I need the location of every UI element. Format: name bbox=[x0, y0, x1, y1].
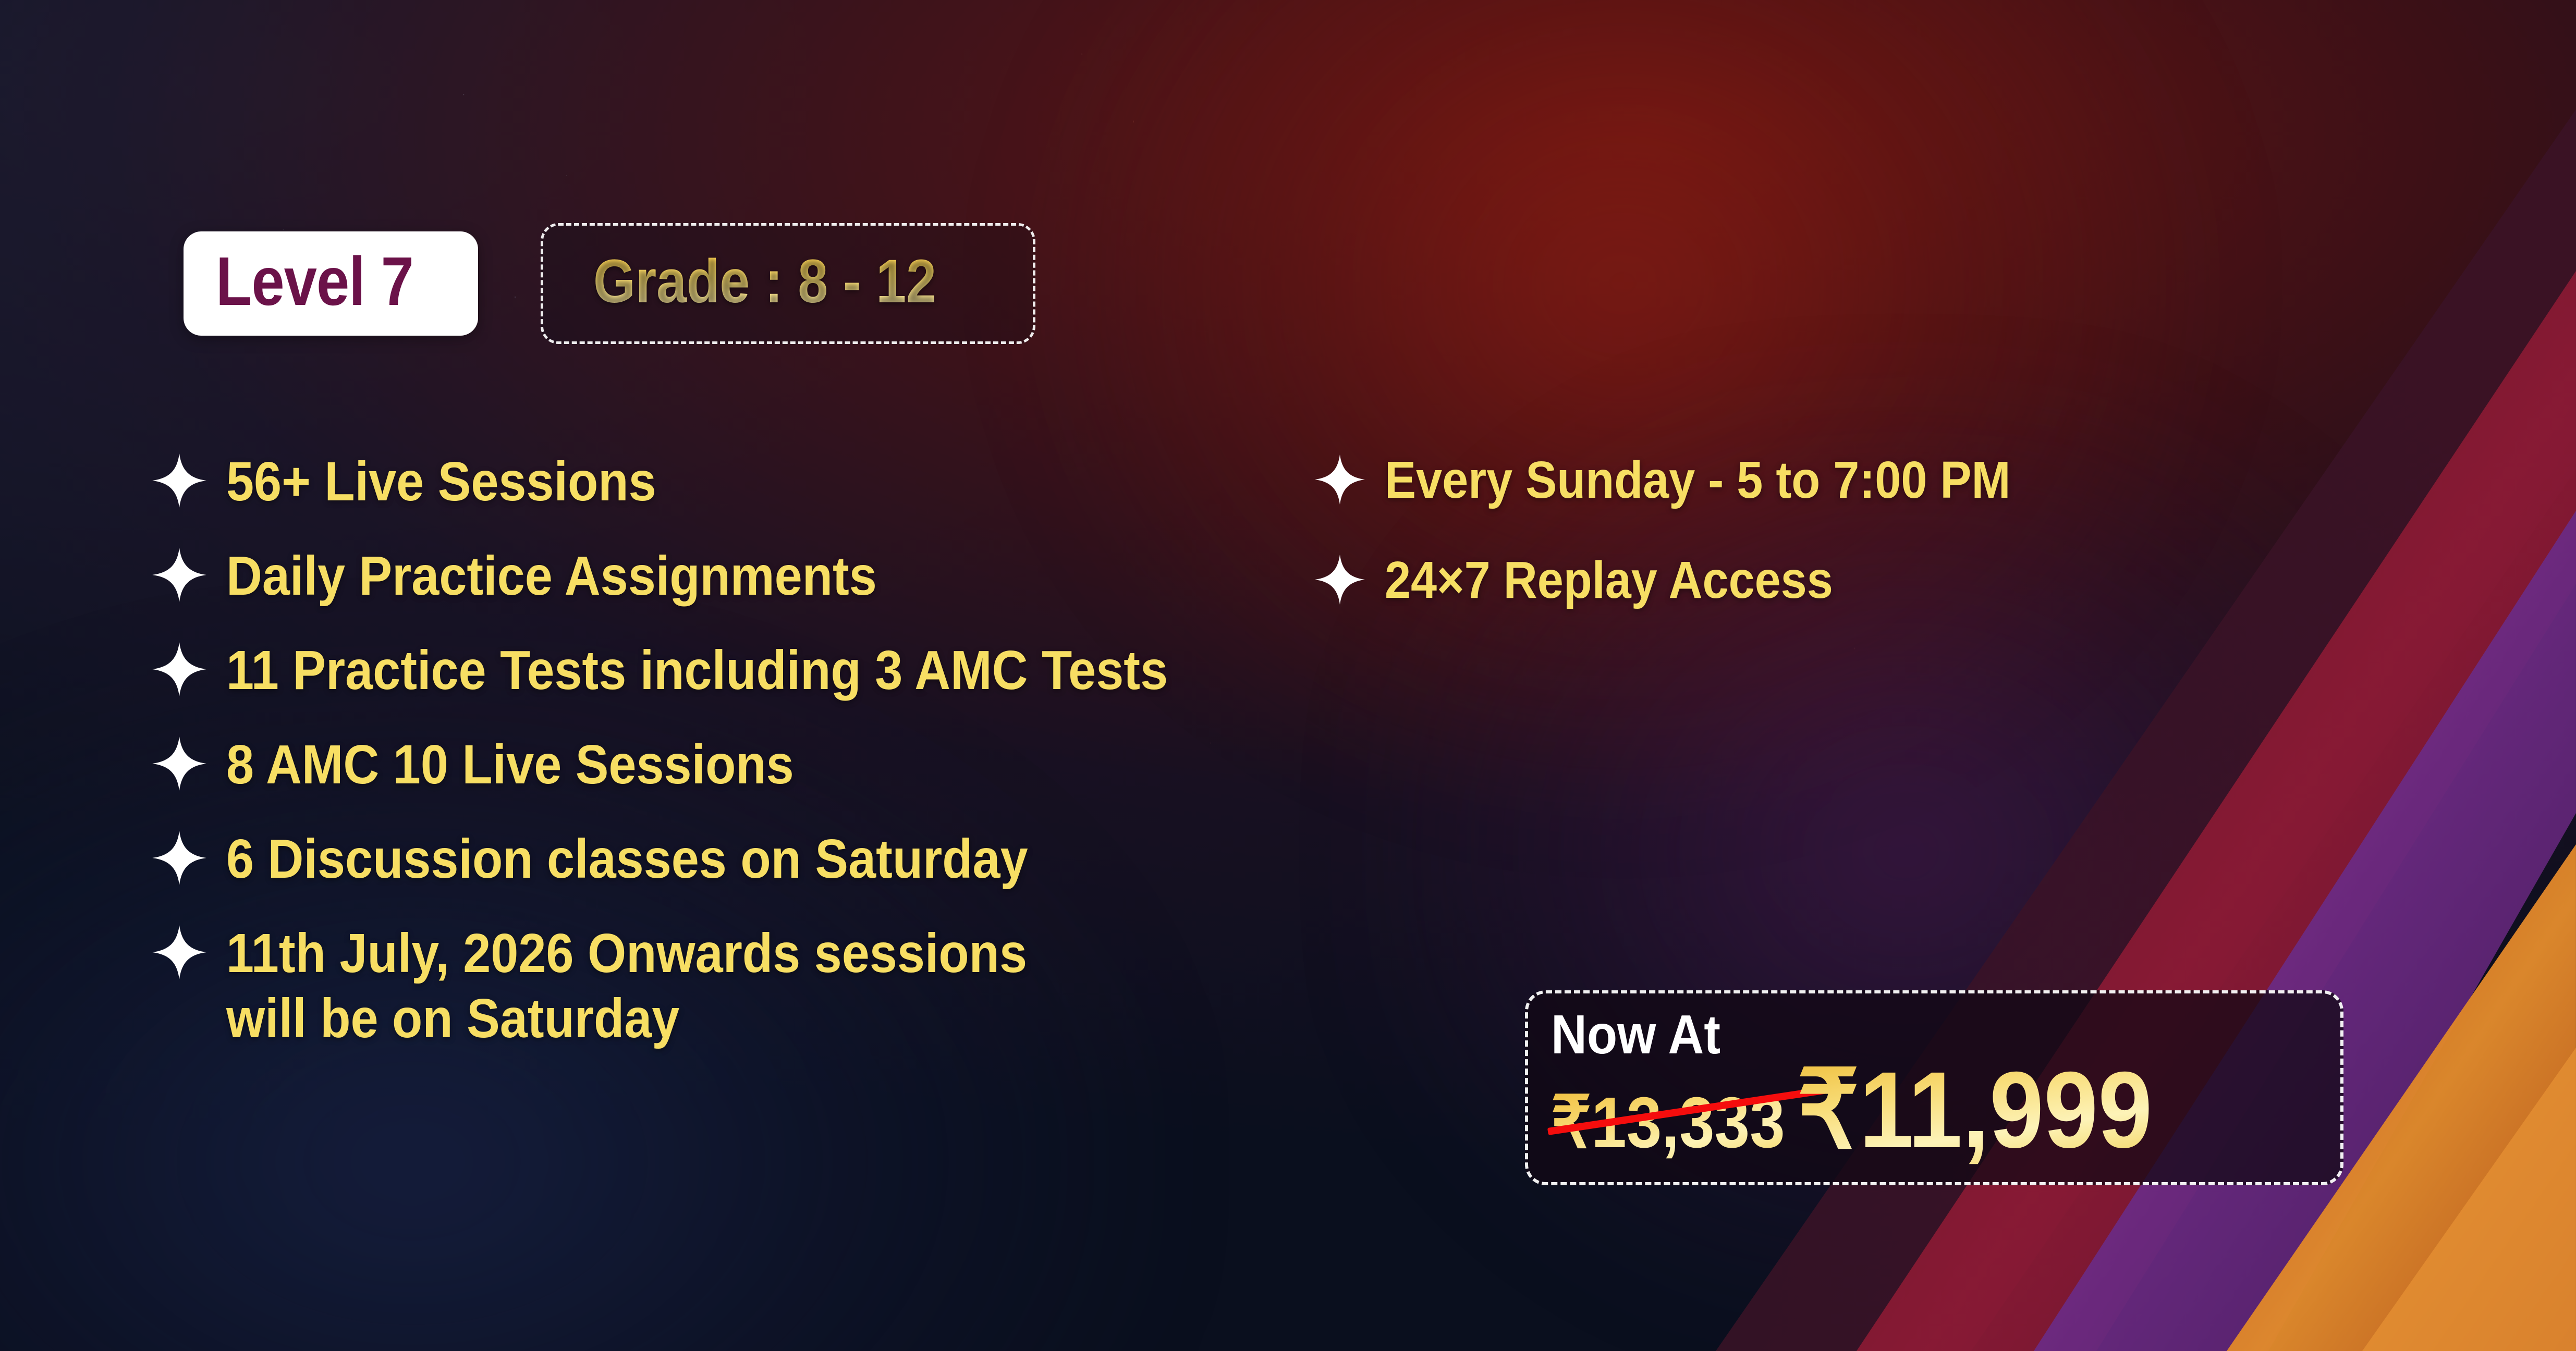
grade-badge-label: Grade : 8 - 12 bbox=[593, 251, 936, 312]
original-price-wrapper: ₹13,333 bbox=[1551, 1087, 1817, 1159]
level-badge-label: Level 7 bbox=[216, 247, 413, 316]
feature-item: Every Sunday - 5 to 7:00 PM bbox=[1314, 449, 2513, 511]
feature-label: 11 Practice Tests including 3 AMC Tests bbox=[226, 638, 1168, 703]
sparkle-icon bbox=[151, 452, 207, 509]
sparkle-icon bbox=[151, 641, 207, 697]
feature-label: 56+ Live Sessions bbox=[226, 449, 656, 514]
discounted-price: ₹11,999 bbox=[1797, 1056, 2152, 1164]
sparkle-icon bbox=[1314, 554, 1366, 606]
feature-item: 8 AMC 10 Live Sessions bbox=[151, 732, 1663, 797]
sparkle-icon bbox=[151, 924, 207, 980]
sparkle-icon bbox=[151, 830, 207, 886]
sparkle-icon bbox=[151, 735, 207, 792]
feature-label: 24×7 Replay Access bbox=[1385, 549, 1833, 611]
level-badge: Level 7 bbox=[184, 231, 478, 336]
price-box: Now At ₹13,333 ₹11,999 bbox=[1525, 990, 2343, 1185]
sparkle-icon bbox=[1314, 453, 1366, 506]
feature-label: Daily Practice Assignments bbox=[226, 544, 877, 609]
sparkle-icon bbox=[151, 547, 207, 603]
promo-banner: Level 7 Grade : 8 - 12 56+ Live Sessions… bbox=[0, 0, 2576, 1351]
feature-label: 6 Discussion classes on Saturday bbox=[226, 827, 1028, 892]
feature-label: Every Sunday - 5 to 7:00 PM bbox=[1385, 449, 2010, 511]
header-badges: Level 7 Grade : 8 - 12 bbox=[184, 223, 1035, 344]
feature-item: 6 Discussion classes on Saturday bbox=[151, 827, 1663, 892]
feature-label: 8 AMC 10 Live Sessions bbox=[226, 732, 794, 797]
price-row: ₹13,333 ₹11,999 bbox=[1551, 1056, 2323, 1164]
feature-item: 11th July, 2026 Onwards sessions will be… bbox=[151, 921, 1663, 1051]
feature-list-right: Every Sunday - 5 to 7:00 PM 24×7 Replay … bbox=[1314, 449, 2513, 649]
feature-label: 11th July, 2026 Onwards sessions will be… bbox=[226, 921, 1027, 1051]
grade-badge: Grade : 8 - 12 bbox=[541, 223, 1036, 344]
feature-item: 24×7 Replay Access bbox=[1314, 549, 2513, 611]
